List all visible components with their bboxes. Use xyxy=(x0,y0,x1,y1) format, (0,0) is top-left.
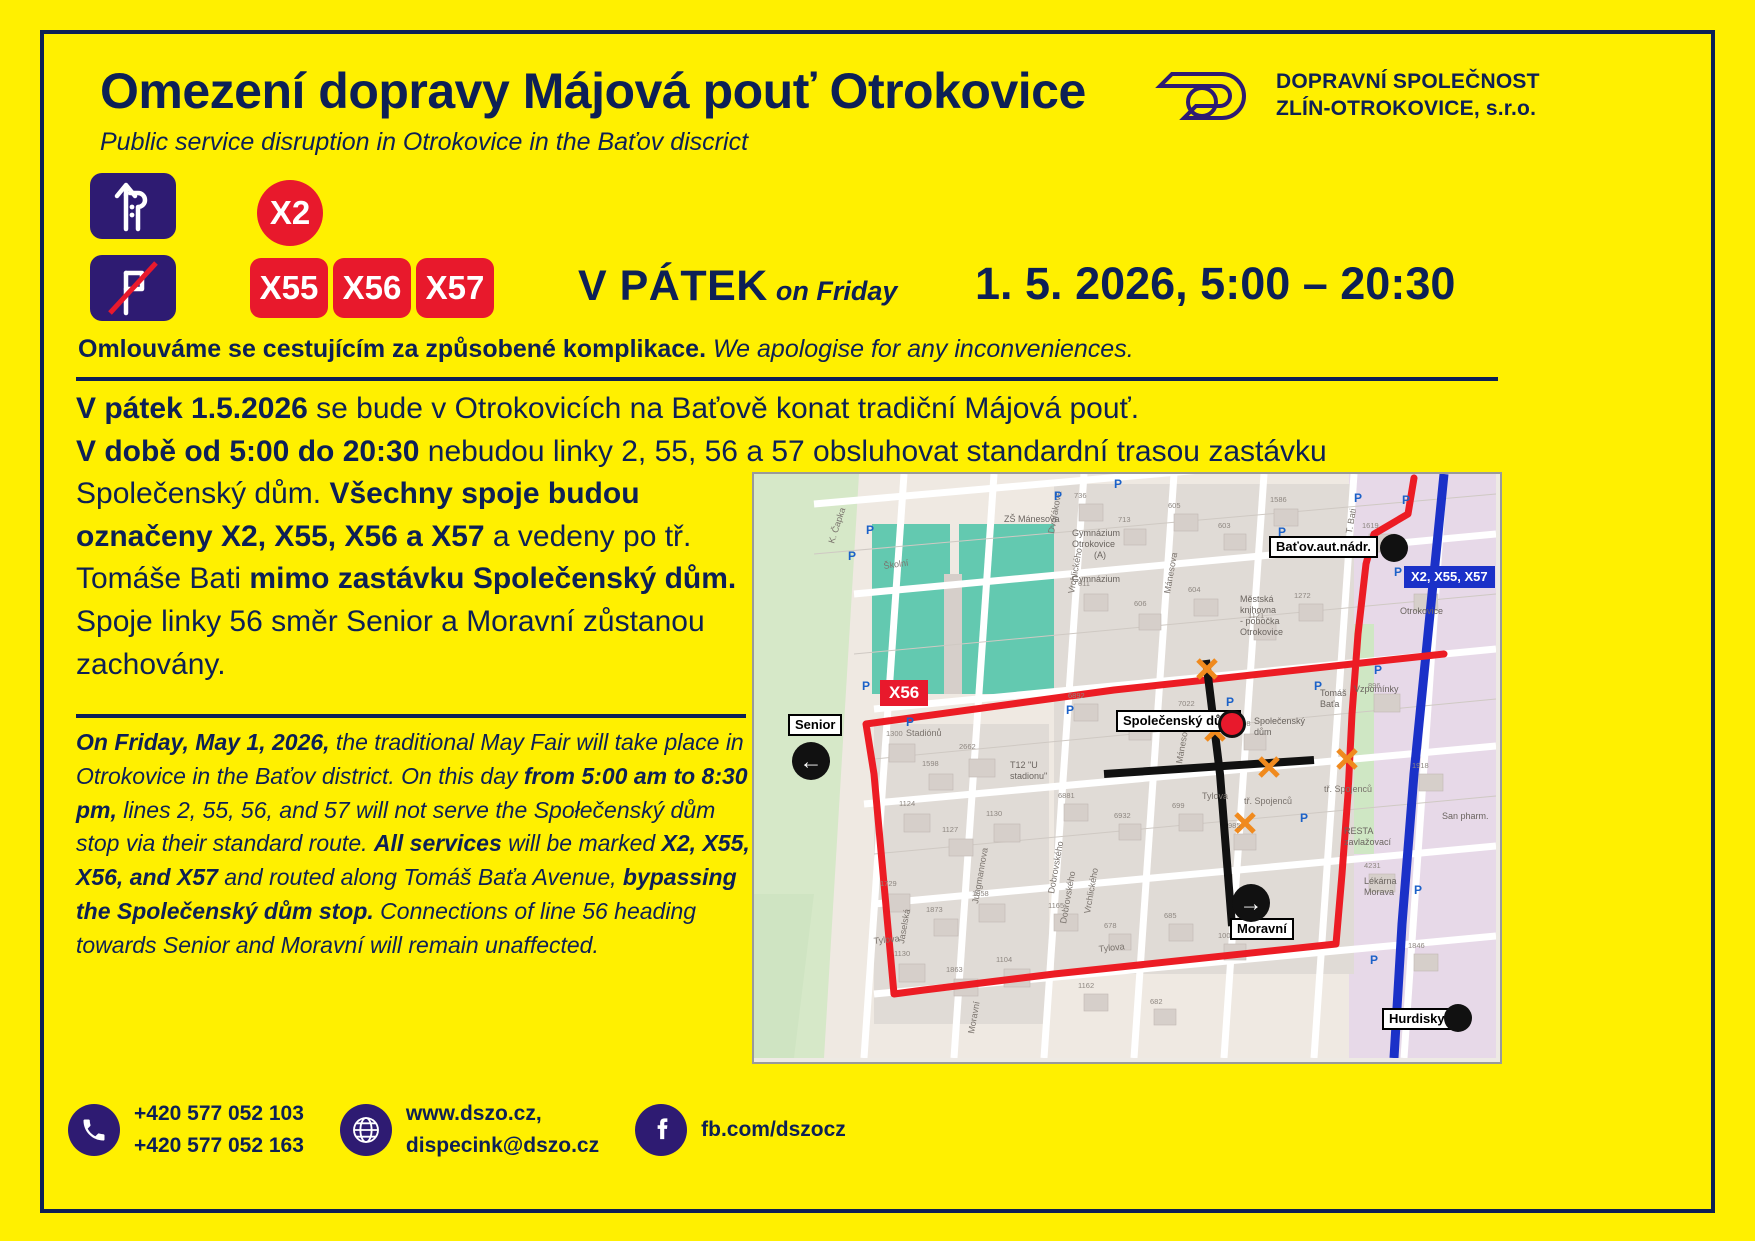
cz-line-3-e: Spoje linky 56 směr Senior a Moravní zůs… xyxy=(76,605,705,681)
cz-line-1-bold: V pátek 1.5.2026 xyxy=(76,392,308,425)
svg-text:1586: 1586 xyxy=(1270,495,1287,504)
svg-text:Baťa: Baťa xyxy=(1320,699,1339,709)
cz-line-2: V době od 5:00 do 20:30 nebudou linky 2,… xyxy=(76,431,1500,474)
contact-phone[interactable]: +420 577 052 103 +420 577 052 163 xyxy=(68,1098,304,1161)
svg-text:1165: 1165 xyxy=(1048,901,1064,910)
apology-en: We apologise for any inconveniences. xyxy=(713,335,1134,363)
facebook-url: fb.com/dszocz xyxy=(701,1114,846,1146)
cz-line-3-a: Společenský dům. xyxy=(76,477,329,510)
svg-text:1729: 1729 xyxy=(880,879,897,888)
svg-text:1104: 1104 xyxy=(996,955,1012,964)
svg-text:896: 896 xyxy=(1368,681,1381,690)
line-badge-x57: X57 xyxy=(416,258,494,318)
svg-text:1130: 1130 xyxy=(986,809,1002,818)
map-stop-dot-spolecensky xyxy=(1218,710,1246,738)
cz-line-1-rest: se bude v Otrokovicích na Baťově konat t… xyxy=(308,392,1139,425)
event-date-time: 1. 5. 2026, 5:00 – 20:30 xyxy=(975,258,1455,310)
svg-text:6932: 6932 xyxy=(1114,811,1131,820)
cz-line-2-rest: nebudou linky 2, 55, 56 a 57 obsluhovat … xyxy=(419,435,1326,468)
svg-text:7022: 7022 xyxy=(1178,699,1195,708)
body-text-english: On Friday, May 1, 2026, the traditional … xyxy=(76,726,752,963)
facebook-icon xyxy=(635,1104,687,1156)
map-label-x56: X56 xyxy=(880,680,928,706)
detour-arrow-icon xyxy=(90,173,176,239)
cz-line-3-d: mimo zastávku Společenský dům. xyxy=(249,562,736,595)
en-text-4: and routed along Tomáš Baťa Avenue, xyxy=(218,864,623,890)
svg-text:1598: 1598 xyxy=(922,759,939,768)
svg-text:Gymnázium: Gymnázium xyxy=(1072,528,1120,538)
svg-text:(A): (A) xyxy=(1094,550,1106,560)
svg-text:RESTA: RESTA xyxy=(1344,826,1373,836)
globe-icon xyxy=(340,1104,392,1156)
map-label-hurdisky: Hurdisky xyxy=(1382,1008,1452,1030)
page-subtitle: Public service disruption in Otrokovice … xyxy=(100,128,748,157)
svg-text:1300: 1300 xyxy=(886,729,903,738)
footer-contacts: +420 577 052 103 +420 577 052 163 www.ds… xyxy=(68,1098,846,1161)
apology-cz: Omlouváme se cestujícím za způsobené kom… xyxy=(78,335,706,363)
web-links: www.dszo.cz, dispecink@dszo.cz xyxy=(406,1098,599,1161)
svg-text:Stadiónů: Stadiónů xyxy=(906,728,942,738)
divider-top xyxy=(76,377,1498,381)
contact-web[interactable]: www.dszo.cz, dispecink@dszo.cz xyxy=(340,1098,599,1161)
svg-text:stadionu": stadionu" xyxy=(1010,771,1047,781)
line-badge-x55: X55 xyxy=(250,258,328,318)
svg-text:682: 682 xyxy=(1150,997,1163,1006)
email-address: dispecink@dszo.cz xyxy=(406,1130,599,1162)
svg-text:606: 606 xyxy=(1134,599,1147,608)
line-badge-x56: X56 xyxy=(333,258,411,318)
svg-text:zavlažovací: zavlažovací xyxy=(1344,837,1392,847)
apology-line: Omlouváme se cestujícím za způsobené kom… xyxy=(78,335,1134,364)
svg-text:tř. Spojenců: tř. Spojenců xyxy=(1324,784,1372,794)
svg-text:1918: 1918 xyxy=(1412,761,1429,770)
when-day-cz: V PÁTEK xyxy=(578,262,768,310)
map-canvas: K. Čapka Školní Jungmannova Jaselská Dob… xyxy=(754,474,1496,1058)
svg-text:Morava: Morava xyxy=(1364,887,1394,897)
svg-text:678: 678 xyxy=(1104,921,1117,930)
map-label-moravni: Moravní xyxy=(1230,918,1294,940)
svg-text:San pharm.: San pharm. xyxy=(1442,811,1489,821)
cz-line-3: Společenský dům. Všechny spoje budou ozn… xyxy=(76,473,766,686)
svg-text:605: 605 xyxy=(1168,501,1181,510)
page-title: Omezení dopravy Májová pouť Otrokovice xyxy=(100,62,1086,120)
svg-text:P: P xyxy=(1402,493,1410,507)
dszo-logo-icon xyxy=(1150,62,1258,130)
line-badge-x2: X2 xyxy=(257,180,323,246)
svg-text:1272: 1272 xyxy=(1294,591,1311,600)
cz-line-2-bold: V době od 5:00 do 20:30 xyxy=(76,435,419,468)
svg-text:736: 736 xyxy=(1074,491,1087,500)
svg-text:2662: 2662 xyxy=(959,742,976,751)
svg-text:P: P xyxy=(1054,489,1062,503)
svg-text:Otrokovice: Otrokovice xyxy=(1240,627,1283,637)
svg-text:tř. Spojenců: tř. Spojenců xyxy=(1244,796,1292,806)
svg-text:1127: 1127 xyxy=(942,825,958,834)
svg-text:P: P xyxy=(1300,811,1308,825)
company-line-1: DOPRAVNÍ SPOLEČNOST xyxy=(1276,69,1540,96)
svg-text:P: P xyxy=(1314,679,1322,693)
svg-text:1863: 1863 xyxy=(946,965,963,974)
svg-text:603: 603 xyxy=(1218,521,1231,530)
poster: Omezení dopravy Májová pouť Otrokovice P… xyxy=(0,0,1755,1241)
map-direction-arrow-senior: ← xyxy=(792,742,830,780)
svg-text:1121: 1121 xyxy=(1248,611,1264,620)
svg-text:P: P xyxy=(1374,663,1382,677)
company-line-2: ZLÍN-OTROKOVICE, s.r.o. xyxy=(1276,96,1540,123)
svg-text:6881: 6881 xyxy=(1058,791,1075,800)
svg-text:Společenský: Společenský xyxy=(1254,716,1306,726)
cz-line-1: V pátek 1.5.2026 se bude v Otrokovicích … xyxy=(76,388,1500,431)
svg-text:P: P xyxy=(1370,953,1378,967)
svg-text:Městská: Městská xyxy=(1240,594,1274,604)
svg-text:P: P xyxy=(1226,695,1234,709)
svg-text:P: P xyxy=(866,523,874,537)
svg-text:T12 "U: T12 "U xyxy=(1010,760,1038,770)
phone-icon xyxy=(68,1104,120,1156)
svg-text:Tylova: Tylova xyxy=(1202,791,1228,801)
route-map[interactable]: K. Čapka Školní Jungmannova Jaselská Dob… xyxy=(752,472,1502,1064)
svg-text:611: 611 xyxy=(1078,579,1090,588)
map-stop-dot-hurdisky xyxy=(1444,1004,1472,1032)
when-block: V PÁTEKon Friday xyxy=(578,262,897,311)
company-name: DOPRAVNÍ SPOLEČNOST ZLÍN-OTROKOVICE, s.r… xyxy=(1276,69,1540,123)
svg-text:P: P xyxy=(848,549,856,563)
en-text-3: will be marked xyxy=(502,830,662,856)
phone-number-2: +420 577 052 163 xyxy=(134,1130,304,1162)
when-day-en: on Friday xyxy=(776,276,898,306)
svg-text:1130: 1130 xyxy=(894,949,910,958)
svg-text:P: P xyxy=(862,679,870,693)
svg-text:Tomáš: Tomáš xyxy=(1320,688,1347,698)
svg-text:1162: 1162 xyxy=(1078,981,1094,990)
svg-text:604: 604 xyxy=(1188,585,1201,594)
no-bus-stop-icon xyxy=(90,255,176,321)
svg-text:P: P xyxy=(1354,491,1362,505)
en-bold-3: All services xyxy=(374,830,502,856)
contact-facebook[interactable]: fb.com/dszocz xyxy=(635,1104,846,1156)
svg-text:1124: 1124 xyxy=(899,799,915,808)
website-url: www.dszo.cz, xyxy=(406,1098,599,1130)
svg-text:ZŠ Mánesova: ZŠ Mánesova xyxy=(1004,514,1060,524)
svg-text:1873: 1873 xyxy=(926,905,943,914)
map-stop-dot-batov xyxy=(1380,534,1408,562)
en-bold-1: On Friday, May 1, 2026, xyxy=(76,729,330,755)
svg-text:685: 685 xyxy=(1164,911,1177,920)
svg-text:Otrokovice: Otrokovice xyxy=(1072,539,1115,549)
svg-text:1619: 1619 xyxy=(1362,521,1379,530)
map-label-batov-aut-nadr: Baťov.aut.nádr. xyxy=(1269,536,1378,558)
svg-text:Otrokovice: Otrokovice xyxy=(1400,606,1443,616)
phone-numbers: +420 577 052 103 +420 577 052 163 xyxy=(134,1098,304,1161)
svg-text:P: P xyxy=(1114,477,1122,491)
svg-text:4231: 4231 xyxy=(1364,861,1381,870)
svg-text:1858: 1858 xyxy=(972,889,989,898)
svg-text:P: P xyxy=(1066,703,1074,717)
svg-text:985: 985 xyxy=(1228,821,1241,830)
svg-text:699: 699 xyxy=(1172,801,1185,810)
map-direction-arrow-moravni: → xyxy=(1232,884,1270,922)
divider-middle xyxy=(76,714,746,718)
svg-text:6892: 6892 xyxy=(1068,691,1085,700)
svg-text:dům: dům xyxy=(1254,727,1272,737)
map-label-senior: Senior xyxy=(788,714,842,736)
map-label-lines-blue: X2, X55, X57 xyxy=(1404,566,1495,588)
phone-number-1: +420 577 052 103 xyxy=(134,1098,304,1130)
svg-text:P: P xyxy=(1394,565,1402,579)
svg-text:P: P xyxy=(1414,883,1422,897)
svg-text:1846: 1846 xyxy=(1408,941,1425,950)
svg-text:713: 713 xyxy=(1118,515,1131,524)
svg-text:Lékárna: Lékárna xyxy=(1364,876,1397,886)
company-logo-block: DOPRAVNÍ SPOLEČNOST ZLÍN-OTROKOVICE, s.r… xyxy=(1150,62,1540,130)
svg-text:P: P xyxy=(906,715,914,729)
